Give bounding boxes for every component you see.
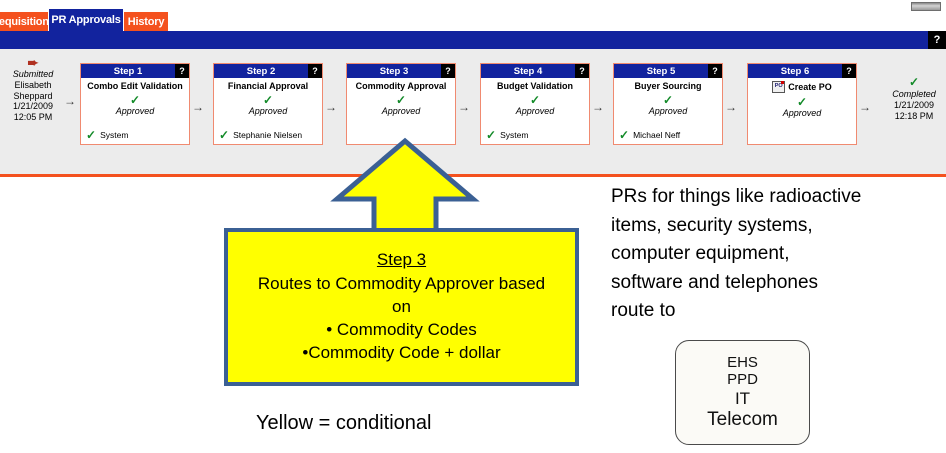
step-status-6: ✓ Approved — [748, 97, 856, 118]
connector-arrow-icon: → — [725, 101, 737, 113]
submitted-status: Submitted — [2, 69, 64, 80]
step-name-label-6: Create PO — [788, 82, 832, 92]
step-help-icon-1[interactable]: ? — [175, 64, 189, 78]
step-name-label-1: Combo Edit Validation — [87, 81, 183, 91]
connector-arrow-icon: → — [592, 101, 604, 113]
step-status-label-1: Approved — [81, 106, 189, 116]
step-name-label-4: Budget Validation — [497, 81, 573, 91]
check-icon: ✓ — [219, 131, 229, 140]
department-item: EHS — [727, 354, 758, 372]
step-status-label-5: Approved — [614, 106, 722, 116]
department-item: PPD — [727, 371, 758, 389]
check-icon: ✓ — [486, 131, 496, 140]
step-card-2[interactable]: Step 2 ? Financial Approval ✓ Approved ✓… — [213, 63, 323, 145]
completed-block: ✓ Completed 1/21/2009 12:18 PM — [884, 77, 944, 121]
step-status-3: ✓ Approved — [347, 95, 455, 116]
step-name-6: PO Create PO — [748, 81, 856, 93]
step-status-label-2: Approved — [214, 106, 322, 116]
step-status-5: ✓ Approved — [614, 95, 722, 116]
right-paragraph-line: software and telephones — [611, 269, 941, 298]
right-paragraph-line: items, security systems, — [611, 212, 941, 241]
submitted-line: Sheppard — [2, 91, 64, 102]
connector-arrow-icon: → — [64, 95, 76, 107]
submitted-block: ➨ Submitted Elisabeth Sheppard 1/21/2009… — [2, 57, 64, 122]
help-button[interactable]: ? — [928, 31, 946, 49]
connector-arrow-icon: → — [325, 101, 337, 113]
check-icon: ✓ — [86, 131, 96, 140]
header-bar: ? — [0, 31, 946, 49]
step-actor-label-4: System — [500, 130, 528, 140]
right-paragraph-line: route to — [611, 297, 941, 326]
step-name-2: Financial Approval — [214, 81, 322, 91]
submitted-line: Elisabeth — [2, 80, 64, 91]
legend-caption: Yellow = conditional — [256, 412, 432, 435]
department-item: IT — [735, 389, 750, 409]
step-card-6[interactable]: Step 6 ? PO Create PO ✓ Approved — [747, 63, 857, 145]
step-card-4[interactable]: Step 4 ? Budget Validation ✓ Approved ✓ … — [480, 63, 590, 145]
step-title-4: Step 4 — [481, 64, 575, 78]
submitted-line: 1/21/2009 — [2, 101, 64, 112]
check-icon: ✓ — [347, 95, 455, 106]
step-card-5[interactable]: Step 5 ? Buyer Sourcing ✓ Approved ✓ Mic… — [613, 63, 723, 145]
step-status-label-3: Approved — [347, 106, 455, 116]
callout-line: Routes to Commodity Approver based — [258, 272, 545, 295]
check-icon: ✓ — [214, 95, 322, 106]
tab-requisition[interactable]: Requisition — [0, 12, 48, 31]
step-title-5: Step 5 — [614, 64, 708, 78]
step-actor-1: ✓ System — [86, 130, 186, 140]
step-actor-label-2: Stephanie Nielsen — [233, 130, 302, 140]
step-header-2: Step 2 ? — [214, 64, 322, 78]
step-actor-2: ✓ Stephanie Nielsen — [219, 130, 319, 140]
step-actor-4: ✓ System — [486, 130, 586, 140]
step-title-2: Step 2 — [214, 64, 308, 78]
step-card-3[interactable]: Step 3 ? Commodity Approval ✓ Approved — [346, 63, 456, 145]
step-status-2: ✓ Approved — [214, 95, 322, 116]
step-name-5: Buyer Sourcing — [614, 81, 722, 91]
departments-box: EHS PPD IT Telecom — [675, 340, 810, 445]
step-name-label-2: Financial Approval — [228, 81, 308, 91]
check-icon: ✓ — [81, 95, 189, 106]
purchase-order-icon: PO — [772, 81, 785, 93]
step-name-label-3: Commodity Approval — [356, 81, 447, 91]
step-status-4: ✓ Approved — [481, 95, 589, 116]
step-name-4: Budget Validation — [481, 81, 589, 91]
check-icon: ✓ — [481, 95, 589, 106]
tab-requisition-label: Requisition — [0, 16, 49, 28]
submitted-line: 12:05 PM — [2, 112, 64, 123]
step-actor-5: ✓ Michael Neff — [619, 130, 719, 140]
step-help-icon-5[interactable]: ? — [708, 64, 722, 78]
department-item: Telecom — [707, 409, 778, 431]
step-help-icon-2[interactable]: ? — [308, 64, 322, 78]
callout-line: • Commodity Codes — [326, 318, 477, 341]
step-name-1: Combo Edit Validation — [81, 81, 189, 91]
step-help-icon-3[interactable]: ? — [441, 64, 455, 78]
step-status-label-4: Approved — [481, 106, 589, 116]
step-header-1: Step 1 ? — [81, 64, 189, 78]
step-title-1: Step 1 — [81, 64, 175, 78]
callout-line: on — [392, 295, 411, 318]
callout-title: Step 3 — [377, 250, 426, 270]
connector-arrow-icon: → — [859, 101, 871, 113]
step-actor-label-1: System — [100, 130, 128, 140]
submitted-arrow-icon: ➨ — [2, 57, 64, 68]
check-icon: ✓ — [884, 77, 944, 88]
step-help-icon-6[interactable]: ? — [842, 64, 856, 78]
completed-line: 1/21/2009 — [884, 100, 944, 111]
step-title-3: Step 3 — [347, 64, 441, 78]
right-paragraph: PRs for things like radioactive items, s… — [611, 183, 941, 326]
step-header-5: Step 5 ? — [614, 64, 722, 78]
step-title-6: Step 6 — [748, 64, 842, 78]
right-paragraph-line: computer equipment, — [611, 240, 941, 269]
callout-line: •Commodity Code + dollar — [302, 341, 500, 364]
step-header-3: Step 3 ? — [347, 64, 455, 78]
tab-history[interactable]: History — [124, 12, 168, 31]
step-help-icon-4[interactable]: ? — [575, 64, 589, 78]
step-header-6: Step 6 ? — [748, 64, 856, 78]
check-icon: ✓ — [614, 95, 722, 106]
tab-strip: Requisition PR Approvals History — [0, 9, 946, 31]
step-card-1[interactable]: Step 1 ? Combo Edit Validation ✓ Approve… — [80, 63, 190, 145]
check-icon: ✓ — [748, 97, 856, 108]
check-icon: ✓ — [619, 131, 629, 140]
tab-history-label: History — [128, 16, 165, 28]
step-name-3: Commodity Approval — [347, 81, 455, 91]
completed-line: 12:18 PM — [884, 111, 944, 122]
tab-pr-approvals-label: PR Approvals — [51, 14, 120, 26]
connector-arrow-icon: → — [458, 101, 470, 113]
step-status-label-6: Approved — [748, 108, 856, 118]
completed-status: Completed — [884, 88, 944, 100]
tab-pr-approvals[interactable]: PR Approvals — [48, 9, 124, 31]
step-status-1: ✓ Approved — [81, 95, 189, 116]
callout-box: Step 3 Routes to Commodity Approver base… — [224, 228, 579, 386]
right-paragraph-line: PRs for things like radioactive — [611, 183, 941, 212]
step-name-label-5: Buyer Sourcing — [634, 81, 701, 91]
step-actor-label-5: Michael Neff — [633, 130, 680, 140]
connector-arrow-icon: → — [192, 101, 204, 113]
step-header-4: Step 4 ? — [481, 64, 589, 78]
